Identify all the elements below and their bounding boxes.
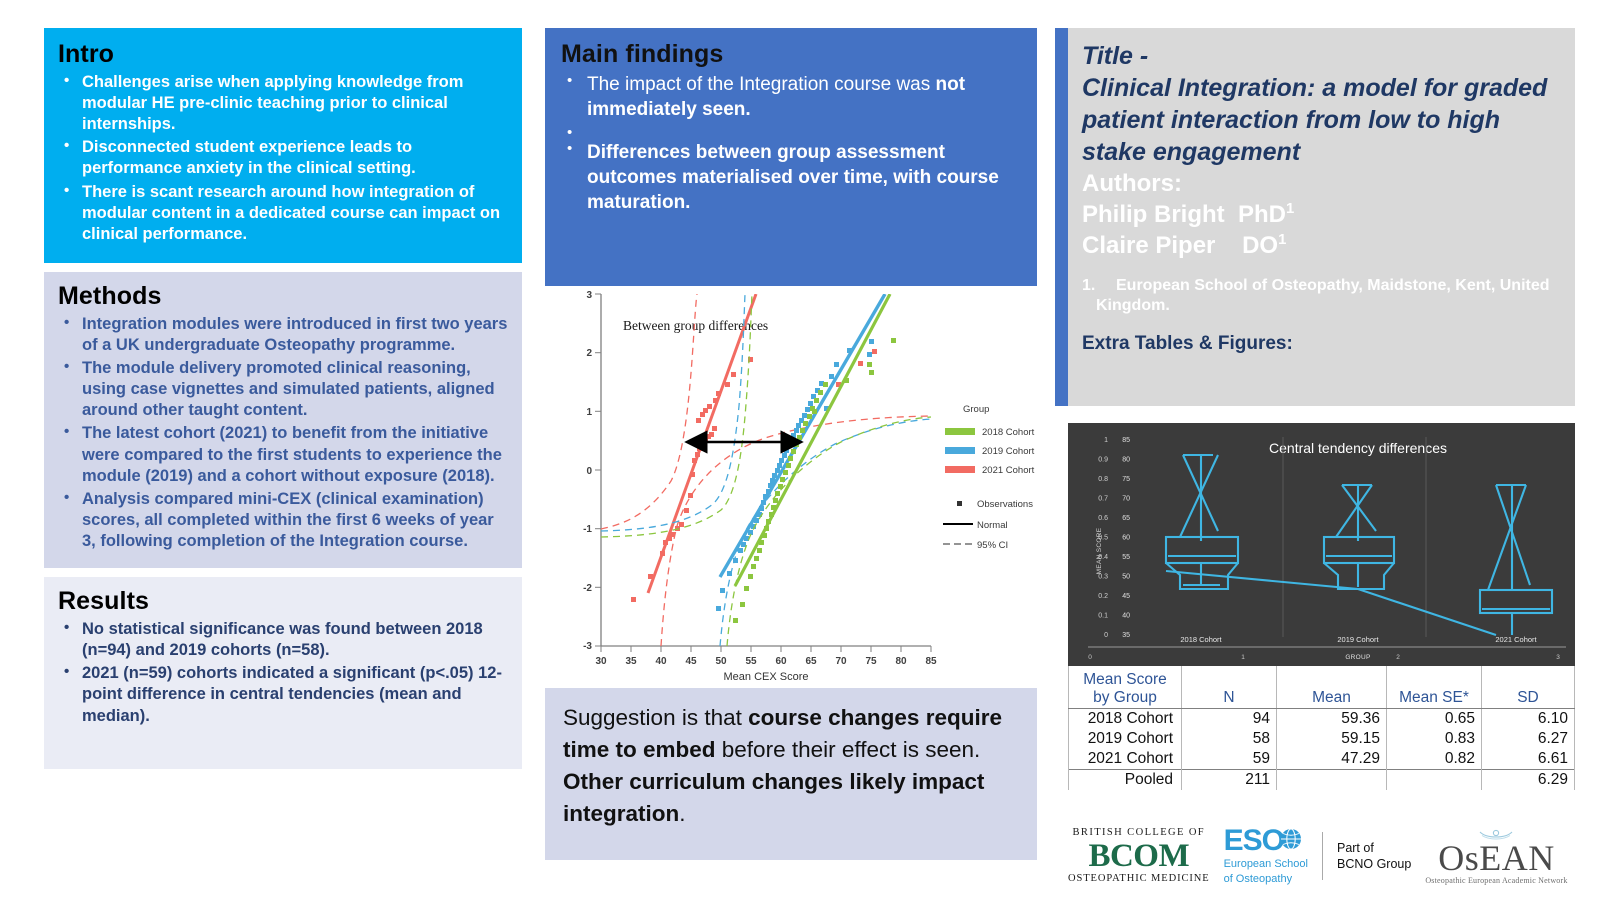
author-2: Claire Piper DO1 bbox=[1082, 230, 1561, 261]
suggestion-part-3: . bbox=[679, 801, 685, 826]
logo-divider bbox=[1322, 832, 1323, 880]
results-heading: Results bbox=[58, 587, 508, 615]
legend-swatch-2021 bbox=[945, 466, 975, 473]
table-cell-sd: 6.10 bbox=[1482, 708, 1575, 729]
suggestion-part-1: Suggestion is that bbox=[563, 705, 748, 730]
svg-text:45: 45 bbox=[1122, 593, 1130, 600]
svg-text:50: 50 bbox=[1122, 574, 1130, 581]
list-item: There is scant research around how integ… bbox=[58, 182, 508, 245]
table-cell-n: 211 bbox=[1182, 769, 1277, 790]
main-findings-card: Main findings The impact of the Integrat… bbox=[545, 28, 1037, 286]
eso-logo: ESO European School of Osteopathy bbox=[1224, 826, 1308, 886]
col-header-group-line2: by Group bbox=[1093, 689, 1157, 706]
table-cell-n: 58 bbox=[1182, 729, 1277, 749]
table-cell-sd: 6.27 bbox=[1482, 729, 1575, 749]
middle-column: Main findings The impact of the Integrat… bbox=[545, 28, 1037, 868]
svg-text:80: 80 bbox=[895, 656, 907, 667]
title-label: Title - bbox=[1082, 40, 1561, 72]
svg-text:85: 85 bbox=[1122, 437, 1130, 444]
methods-card: Methods Integration modules were introdu… bbox=[44, 272, 522, 568]
svg-text:50: 50 bbox=[715, 656, 727, 667]
svg-text:80: 80 bbox=[1122, 457, 1130, 464]
bcno-line2: BCNO Group bbox=[1337, 856, 1411, 872]
svg-text:1: 1 bbox=[586, 407, 592, 418]
affiliation: 1.European School of Osteopathy, Maidsto… bbox=[1082, 276, 1561, 318]
table-row: 2021 Cohort5947.290.826.61 bbox=[1069, 749, 1575, 770]
table-cell-sd: 6.61 bbox=[1482, 749, 1575, 770]
list-item: The latest cohort (2021) to benefit from… bbox=[58, 423, 508, 486]
eso-logo-wordmark: ESO bbox=[1224, 826, 1284, 856]
legend-swatch-2019 bbox=[945, 447, 975, 454]
suggestion-part-2: before their effect is seen. bbox=[716, 737, 981, 762]
affiliation-text: European School of Osteopathy, Maidstone… bbox=[1096, 277, 1550, 315]
right-column: Title - Clinical Integration: a model fo… bbox=[1055, 28, 1575, 873]
author-1-affil-marker: 1 bbox=[1286, 201, 1294, 217]
svg-text:30: 30 bbox=[595, 656, 607, 667]
boxplot-svg: 10.90.80.70.60.50.40.30.20.10 8580757065… bbox=[1068, 423, 1575, 666]
col-header-n: N bbox=[1182, 666, 1277, 708]
central-tendency-chart: 10.90.80.70.60.50.40.30.20.10 8580757065… bbox=[1068, 423, 1575, 666]
observations-2018 bbox=[733, 338, 896, 623]
table-cell-group: 2019 Cohort bbox=[1069, 729, 1182, 749]
title-card: Title - Clinical Integration: a model fo… bbox=[1068, 28, 1575, 406]
intro-card: Intro Challenges arise when applying kno… bbox=[44, 28, 522, 263]
author-1: Philip Bright PhD1 bbox=[1082, 199, 1561, 230]
list-item: Analysis compared mini-CEX (clinical exa… bbox=[58, 489, 508, 552]
svg-text:0.8: 0.8 bbox=[1098, 476, 1108, 483]
svg-text:70: 70 bbox=[1122, 496, 1130, 503]
x-axis-label: Mean CEX Score bbox=[724, 671, 809, 683]
finding-1-plain: The impact of the Integration course was bbox=[587, 74, 936, 95]
bcom-logo-wordmark: BCOM bbox=[1068, 840, 1210, 873]
svg-text:2: 2 bbox=[1396, 654, 1400, 661]
table-cell-se: 0.83 bbox=[1387, 729, 1482, 749]
list-item: 2021 (n=59) cohorts indicated a signific… bbox=[58, 663, 508, 726]
plot-area bbox=[601, 294, 931, 646]
legend-label-normal: Normal bbox=[977, 520, 1008, 531]
osean-logo-wordmark: OsEAN bbox=[1425, 840, 1567, 876]
left-column: Intro Challenges arise when applying kno… bbox=[44, 28, 522, 868]
bullet-spacer bbox=[561, 124, 1021, 138]
svg-text:35: 35 bbox=[1122, 632, 1130, 639]
affiliation-number: 1. bbox=[1082, 276, 1116, 297]
stats-table: Mean Score by Group N Mean Mean SE* SD 2… bbox=[1068, 666, 1575, 790]
author-1-degree: PhD bbox=[1238, 201, 1286, 228]
legend-label-2018: 2018 Cohort bbox=[982, 427, 1035, 438]
legend-title: Group bbox=[963, 404, 989, 415]
bcom-logo: BRITISH COLLEGE OF BCOM OSTEOPATHIC MEDI… bbox=[1068, 828, 1210, 884]
svg-text:0: 0 bbox=[1088, 654, 1092, 661]
list-item: No statistical significance was found be… bbox=[58, 619, 508, 661]
list-item: Integration modules were introduced in f… bbox=[58, 314, 508, 356]
boxplot-x-axis-label: GROUP bbox=[1345, 654, 1370, 661]
bcom-logo-line1: BRITISH COLLEGE OF bbox=[1068, 828, 1210, 839]
results-card: Results No statistical significance was … bbox=[44, 577, 522, 769]
col-header-group-line1: Mean Score bbox=[1083, 671, 1167, 688]
svg-text:0: 0 bbox=[1104, 632, 1108, 639]
table-cell-group: Pooled bbox=[1069, 769, 1182, 790]
svg-text:0.2: 0.2 bbox=[1098, 593, 1108, 600]
intro-heading: Intro bbox=[58, 40, 508, 68]
boxplot-title: Central tendency differences bbox=[1269, 440, 1447, 456]
svg-text:2018 Cohort: 2018 Cohort bbox=[1180, 635, 1222, 644]
between-group-differences-chart: 3 2 1 0 -1 -2 -3 30 35 40 45 50 55 60 bbox=[545, 286, 1037, 686]
extra-tables-heading: Extra Tables & Figures: bbox=[1082, 333, 1561, 355]
legend-label-2019: 2019 Cohort bbox=[982, 446, 1035, 457]
svg-text:1: 1 bbox=[1104, 437, 1108, 444]
ci-lower-2018 bbox=[727, 417, 931, 646]
qq-plot-svg: 3 2 1 0 -1 -2 -3 30 35 40 45 50 55 60 bbox=[545, 286, 1037, 686]
osean-logo-tagline: Osteopathic European Academic Network bbox=[1425, 877, 1567, 885]
suggestion-card: Suggestion is that course changes requir… bbox=[545, 688, 1037, 860]
page-title: Clinical Integration: a model for graded… bbox=[1082, 72, 1561, 168]
svg-text:0: 0 bbox=[586, 466, 592, 477]
list-item: Disconnected student experience leads to… bbox=[58, 137, 508, 179]
table-row: Pooled2116.29 bbox=[1069, 769, 1575, 790]
suggestion-bold-2: Other curriculum changes likely impact i… bbox=[563, 769, 984, 826]
bcom-logo-line3: OSTEOPATHIC MEDICINE bbox=[1068, 874, 1210, 885]
table-cell-se bbox=[1387, 769, 1482, 790]
globe-icon bbox=[1280, 828, 1302, 850]
svg-text:1: 1 bbox=[1241, 654, 1245, 661]
table-cell-se: 0.82 bbox=[1387, 749, 1482, 770]
svg-text:60: 60 bbox=[1122, 535, 1130, 542]
svg-text:85: 85 bbox=[925, 656, 937, 667]
svg-text:55: 55 bbox=[745, 656, 757, 667]
col-header-sd: SD bbox=[1482, 666, 1575, 708]
svg-text:55: 55 bbox=[1122, 554, 1130, 561]
svg-text:40: 40 bbox=[1122, 613, 1130, 620]
svg-text:60: 60 bbox=[775, 656, 787, 667]
svg-text:3: 3 bbox=[1556, 654, 1560, 661]
table-cell-group: 2021 Cohort bbox=[1069, 749, 1182, 770]
col-header-mean-se: Mean SE* bbox=[1387, 666, 1482, 708]
boxplot-background bbox=[1068, 423, 1575, 666]
svg-text:0.1: 0.1 bbox=[1098, 613, 1108, 620]
legend-label-observations: Observations bbox=[977, 499, 1033, 510]
svg-text:2: 2 bbox=[586, 348, 592, 359]
svg-text:45: 45 bbox=[685, 656, 697, 667]
svg-text:65: 65 bbox=[1122, 515, 1130, 522]
chart-legend: Group 2018 Cohort 2019 Cohort 2021 Cohor… bbox=[943, 404, 1035, 551]
poster-root: Intro Challenges arise when applying kno… bbox=[0, 0, 1607, 903]
svg-text:2021 Cohort: 2021 Cohort bbox=[1495, 635, 1537, 644]
x-tick-labels: 30 35 40 45 50 55 60 65 70 75 80 85 bbox=[595, 646, 937, 667]
svg-text:3: 3 bbox=[586, 290, 592, 301]
osean-logo: OsEAN Osteopathic European Academic Netw… bbox=[1425, 828, 1567, 885]
svg-text:-2: -2 bbox=[583, 583, 592, 594]
legend-observation-marker bbox=[957, 501, 962, 506]
svg-text:-3: -3 bbox=[583, 641, 592, 652]
svg-text:0.9: 0.9 bbox=[1098, 457, 1108, 464]
bcno-line1: Part of bbox=[1337, 840, 1411, 856]
stats-table-body: 2018 Cohort9459.360.656.102019 Cohort585… bbox=[1069, 708, 1575, 790]
table-cell-se: 0.65 bbox=[1387, 708, 1482, 729]
list-item: Challenges arise when applying knowledge… bbox=[58, 72, 508, 135]
author-1-name: Philip Bright bbox=[1082, 201, 1225, 228]
author-2-degree: DO bbox=[1242, 232, 1278, 259]
table-cell-group: 2018 Cohort bbox=[1069, 708, 1182, 729]
svg-text:0.7: 0.7 bbox=[1098, 496, 1108, 503]
table-row: 2019 Cohort5859.150.836.27 bbox=[1069, 729, 1575, 749]
list-item: The impact of the Integration course was… bbox=[561, 72, 1021, 122]
table-cell-mean: 47.29 bbox=[1277, 749, 1387, 770]
list-item: Differences between group assessment out… bbox=[561, 140, 1021, 215]
results-bullet-list: No statistical significance was found be… bbox=[58, 619, 508, 727]
list-item: The module delivery promoted clinical re… bbox=[58, 358, 508, 421]
table-row: 2018 Cohort9459.360.656.10 bbox=[1069, 708, 1575, 729]
table-cell-n: 94 bbox=[1182, 708, 1277, 729]
table-cell-n: 59 bbox=[1182, 749, 1277, 770]
y-tick-labels: 3 2 1 0 -1 -2 -3 bbox=[583, 290, 601, 652]
svg-text:75: 75 bbox=[1122, 476, 1130, 483]
legend-label-2021: 2021 Cohort bbox=[982, 465, 1035, 476]
legend-label-ci: 95% CI bbox=[977, 540, 1008, 551]
y-axis-label: MEAN SCORE bbox=[1096, 527, 1103, 574]
svg-text:40: 40 bbox=[655, 656, 667, 667]
main-findings-heading: Main findings bbox=[561, 40, 1021, 68]
authors-label: Authors: bbox=[1082, 168, 1561, 199]
author-2-name: Claire Piper bbox=[1082, 232, 1215, 259]
table-cell-mean bbox=[1277, 769, 1387, 790]
svg-text:65: 65 bbox=[805, 656, 817, 667]
svg-text:-1: -1 bbox=[583, 524, 592, 535]
table-cell-sd: 6.29 bbox=[1482, 769, 1575, 790]
logo-strip: BRITISH COLLEGE OF BCOM OSTEOPATHIC MEDI… bbox=[1068, 818, 1575, 894]
eso-logo-line3: of Osteopathy bbox=[1224, 873, 1308, 886]
eso-logo-line2: European School bbox=[1224, 858, 1308, 871]
col-header-mean: Mean bbox=[1277, 666, 1387, 708]
svg-text:0.6: 0.6 bbox=[1098, 515, 1108, 522]
author-2-affil-marker: 1 bbox=[1278, 232, 1286, 248]
normal-line-2019 bbox=[720, 294, 885, 577]
svg-text:2019 Cohort: 2019 Cohort bbox=[1337, 635, 1379, 644]
table-cell-mean: 59.15 bbox=[1277, 729, 1387, 749]
svg-text:70: 70 bbox=[835, 656, 847, 667]
svg-text:75: 75 bbox=[865, 656, 877, 667]
methods-bullet-list: Integration modules were introduced in f… bbox=[58, 314, 508, 552]
title-accent-bar bbox=[1055, 28, 1068, 406]
methods-heading: Methods bbox=[58, 282, 508, 310]
svg-text:35: 35 bbox=[625, 656, 637, 667]
findings-bullet-list: The impact of the Integration course was… bbox=[561, 72, 1021, 215]
bcno-group-text: Part of BCNO Group bbox=[1337, 840, 1411, 873]
legend-swatch-2018 bbox=[945, 428, 975, 435]
table-header-row: Mean Score by Group N Mean Mean SE* SD bbox=[1069, 666, 1575, 708]
intro-bullet-list: Challenges arise when applying knowledge… bbox=[58, 72, 508, 245]
table-cell-mean: 59.36 bbox=[1277, 708, 1387, 729]
stats-table-wrap: Mean Score by Group N Mean Mean SE* SD 2… bbox=[1068, 666, 1575, 790]
col-header-group: Mean Score by Group bbox=[1069, 666, 1182, 708]
finding-2-bold: Differences between group assessment out… bbox=[587, 142, 999, 213]
